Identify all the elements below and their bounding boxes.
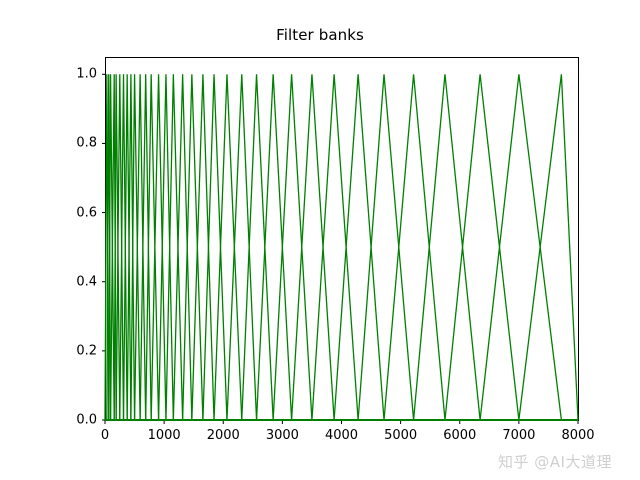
matplotlib-figure: Filter banks 010002000300040005000600070… [0, 0, 640, 480]
axes-frame [106, 58, 579, 421]
x-tick-label: 5000 [384, 428, 417, 443]
watermark: 知乎 @AI大道理 [498, 451, 612, 472]
x-tick-label: 4000 [325, 428, 358, 443]
x-tick-label: 8000 [561, 428, 594, 443]
axes-background [106, 58, 579, 421]
x-tick-label: 0 [101, 428, 109, 443]
x-tick-label: 1000 [148, 428, 181, 443]
x-tick-label: 7000 [502, 428, 535, 443]
y-tick-label: 0.4 [76, 274, 97, 289]
x-tick-label: 3000 [266, 428, 299, 443]
x-tick-label: 2000 [207, 428, 240, 443]
y-tick-label: 0.2 [76, 343, 97, 358]
y-tick-label: 1.0 [76, 67, 97, 82]
y-tick-label: 0.6 [76, 205, 97, 220]
y-tick-label: 0.0 [76, 413, 97, 428]
x-tick-label: 6000 [443, 428, 476, 443]
y-tick-label: 0.8 [76, 136, 97, 151]
